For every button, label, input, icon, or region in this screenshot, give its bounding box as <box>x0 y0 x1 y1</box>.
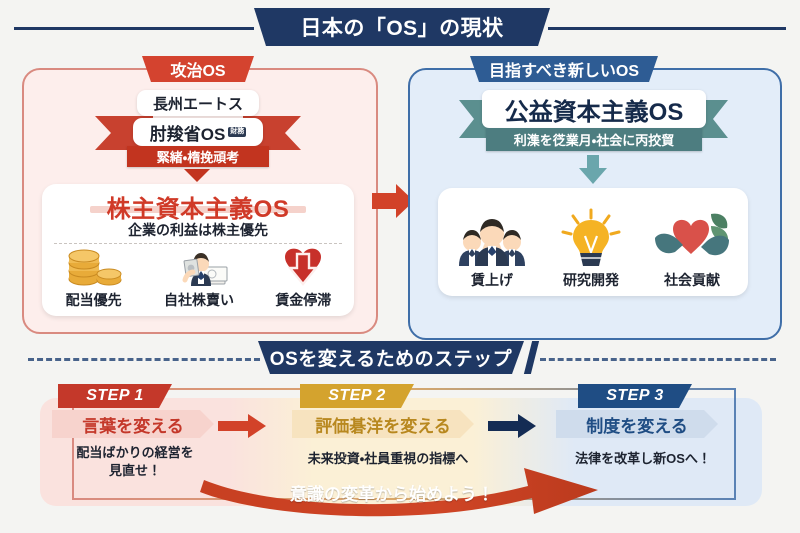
left-down-arrow-icon <box>184 169 210 182</box>
new-os-items: 賃上げ 研究開発 <box>440 192 746 290</box>
mindset-loop-label-text: 意識の変革から始めよう！ <box>290 485 494 504</box>
current-os-card-1: 長州エートス <box>137 90 259 116</box>
shareholder-os-subtitle-text: 企業の利益は株主優先 <box>128 222 268 238</box>
new-os-badge: 目指すべき新しいOS <box>470 56 658 82</box>
list-item: 賃金停滞 <box>275 246 331 310</box>
step-3-badge: STEP 3 <box>578 384 692 408</box>
new-os-title-card: 公益資本主義OS <box>482 90 706 128</box>
shareholder-os-title-text: 株主資本主義OS <box>107 196 290 223</box>
step-3-headline-text: 制度を変える <box>586 412 688 437</box>
step-3-badge-text: STEP 3 <box>606 387 664 405</box>
step-1-to-2-arrow-icon <box>218 414 266 443</box>
list-item-caption: 社会貢献 <box>664 270 720 290</box>
businessman-money-icon <box>167 246 231 288</box>
step-1-desc-line1: 配当ばかりの経営を <box>40 444 230 462</box>
step-2-headline: 評価碁洋を変える <box>292 410 474 438</box>
step-2-to-3-arrow-icon <box>488 414 536 443</box>
new-os-badge-text: 目指すべき新しいOS <box>489 57 639 81</box>
lightbulb-icon <box>555 208 627 268</box>
new-os-title-text: 公益資本主義OS <box>505 92 684 127</box>
step-1-badge: STEP 1 <box>58 384 172 408</box>
ministry-tag-icon: 財務 <box>228 127 246 137</box>
right-down-arrow-icon <box>578 155 608 190</box>
people-group-icon <box>451 208 533 268</box>
list-item-caption: 自社株賣い <box>164 290 234 310</box>
heart-hands-leaf-icon <box>649 208 735 268</box>
current-os-card-2-label: 肘羧省OS <box>150 120 226 145</box>
title-rule-right <box>548 27 786 30</box>
step-1-headline: 言葉を変える <box>52 410 214 438</box>
section2-title-banner: OSを変えるためのステップ <box>258 341 524 374</box>
current-os-card-1-label: 長州エートス <box>153 93 243 114</box>
left-card-separator <box>54 243 342 244</box>
current-os-card-2: 肘羧省OS 財務 <box>133 118 263 146</box>
shareholder-os-items: 配当優先 自社株賣い <box>44 248 352 310</box>
section2-rule-left <box>28 358 260 361</box>
current-os-badge-text: 攻治OS <box>170 57 225 81</box>
list-item: 社会貢献 <box>649 208 735 290</box>
list-item: 賃上げ <box>451 208 533 290</box>
list-item-caption: 配当優先 <box>66 290 122 310</box>
list-item: 研究開発 <box>555 208 627 290</box>
list-item-caption: 賃金停滞 <box>275 290 331 310</box>
list-item-caption: 賃上げ <box>471 270 513 290</box>
list-item: 自社株賣い <box>164 246 234 310</box>
step-3-headline: 制度を変える <box>556 410 718 438</box>
new-os-ribbon: 利潗を徔業月・社会に丙挍貿 <box>486 128 702 151</box>
current-os-ribbon-text: 緊緒・楕挽頑考 <box>157 147 239 166</box>
list-item: 配当優先 <box>65 246 123 310</box>
section1-title-banner: 日本の「OS」の現状 <box>254 8 550 46</box>
step-1-badge-text: STEP 1 <box>86 387 144 405</box>
step-2-badge: STEP 2 <box>300 384 414 408</box>
new-os-ribbon-text: 利潗を徔業月・社会に丙挍貿 <box>514 130 674 149</box>
shareholder-os-title: 株主資本主義OS <box>42 189 354 224</box>
list-item-caption: 研究開発 <box>563 270 619 290</box>
mindset-loop-label: 意識の変革から始めよう！ <box>290 480 494 505</box>
shareholder-os-subtitle: 企業の利益は株主優先 <box>42 220 354 240</box>
current-os-ribbon: 緊緒・楕挽頑考 <box>127 146 269 167</box>
coins-icon <box>65 246 123 288</box>
step-1-headline-text: 言葉を変える <box>82 412 184 437</box>
infographic-canvas: 日本の「OS」の現状 攻治OS 長州エートス 肘羧省OS 財務 緊緒・楕挽頑考 … <box>0 0 800 533</box>
title-rule-left <box>14 27 254 30</box>
step-2-badge-text: STEP 2 <box>328 387 386 405</box>
section2-rule-right <box>540 358 776 361</box>
wage-down-heart-icon <box>277 246 329 288</box>
step-2-headline-text: 評価碁洋を変える <box>315 412 451 437</box>
section2-title-text: OSを変えるためのステップ <box>270 344 512 371</box>
section1-title-text: 日本の「OS」の現状 <box>300 12 503 42</box>
section2-slash-icon <box>524 341 539 374</box>
current-os-badge: 攻治OS <box>142 56 254 82</box>
